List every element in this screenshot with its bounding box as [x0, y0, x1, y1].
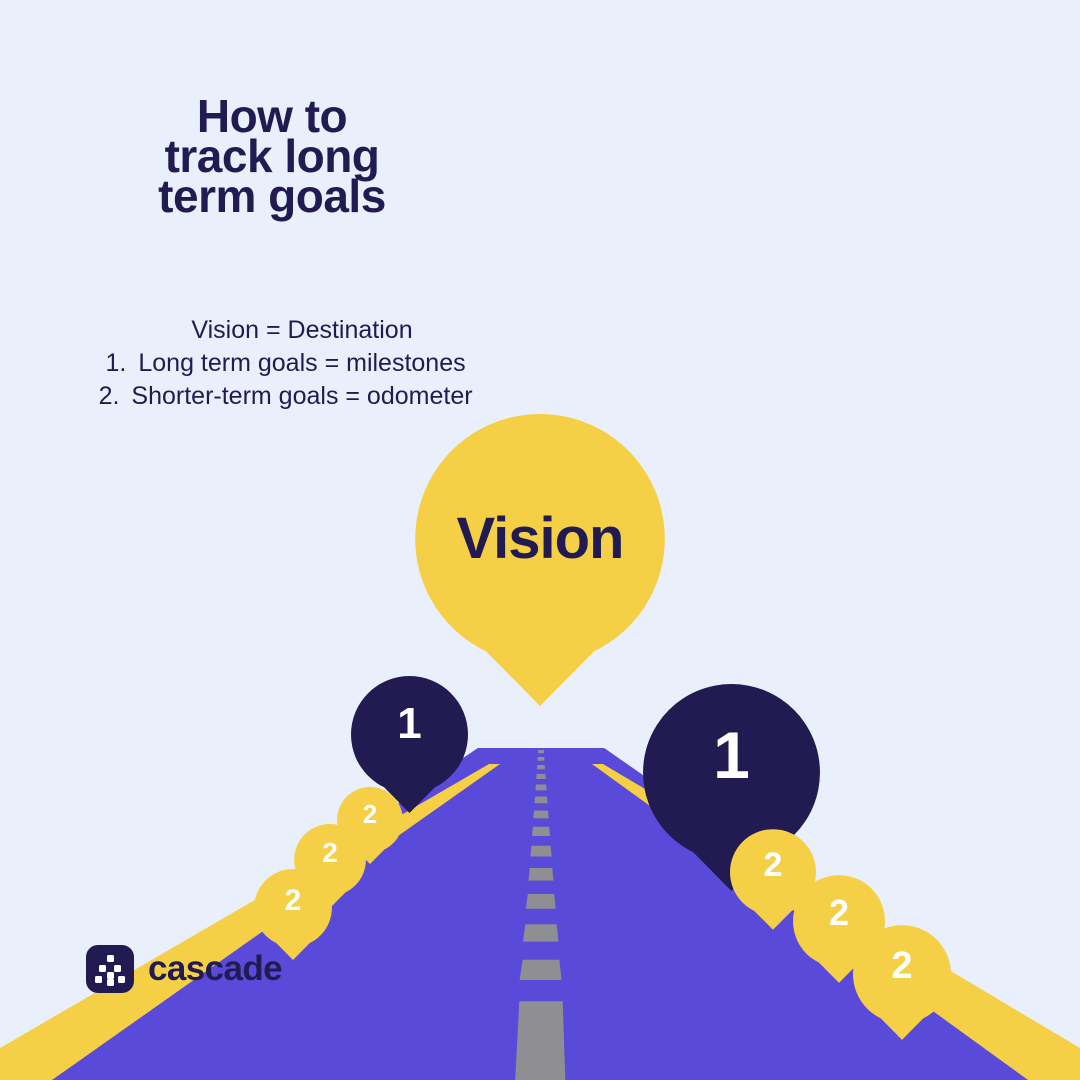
legend-item-long-term-goals: 1. Long term goals = milestones — [45, 347, 505, 380]
cascade-logo-mark-icon — [86, 945, 134, 993]
title-line-3: term goals — [62, 176, 482, 216]
logo-dot — [114, 965, 121, 972]
pin-shape-icon — [415, 414, 665, 706]
legend-number: 1. — [84, 347, 126, 380]
legend-item-vision: Vision = Destination — [45, 314, 505, 347]
map-pin-odometer-left-3[interactable]: 2 — [254, 869, 332, 947]
infographic-canvas: How to track long term goals Vision = De… — [0, 0, 1080, 1080]
legend-label: Shorter-term goals = odometer — [131, 380, 472, 413]
logo-dot — [99, 965, 106, 972]
cascade-logo[interactable]: cascade — [86, 945, 282, 993]
legend-label: Vision = Destination — [191, 314, 412, 347]
logo-dot — [107, 979, 114, 986]
map-pin-vision[interactable]: Vision — [415, 414, 665, 664]
legend-list: Vision = Destination 1. Long term goals … — [45, 314, 505, 413]
map-pin-odometer-right-3[interactable]: 2 — [853, 925, 951, 1023]
legend-item-shorter-term-goals: 2. Shorter-term goals = odometer — [45, 380, 505, 413]
logo-dot — [95, 976, 102, 983]
legend-number: 2. — [77, 380, 119, 413]
legend-label: Long term goals = milestones — [138, 347, 465, 380]
logo-dot — [107, 972, 114, 979]
logo-dot — [107, 955, 114, 962]
page-title: How to track long term goals — [62, 96, 482, 216]
cascade-wordmark: cascade — [148, 949, 282, 989]
logo-dot — [118, 976, 125, 983]
pin-shape-icon — [853, 925, 951, 1040]
